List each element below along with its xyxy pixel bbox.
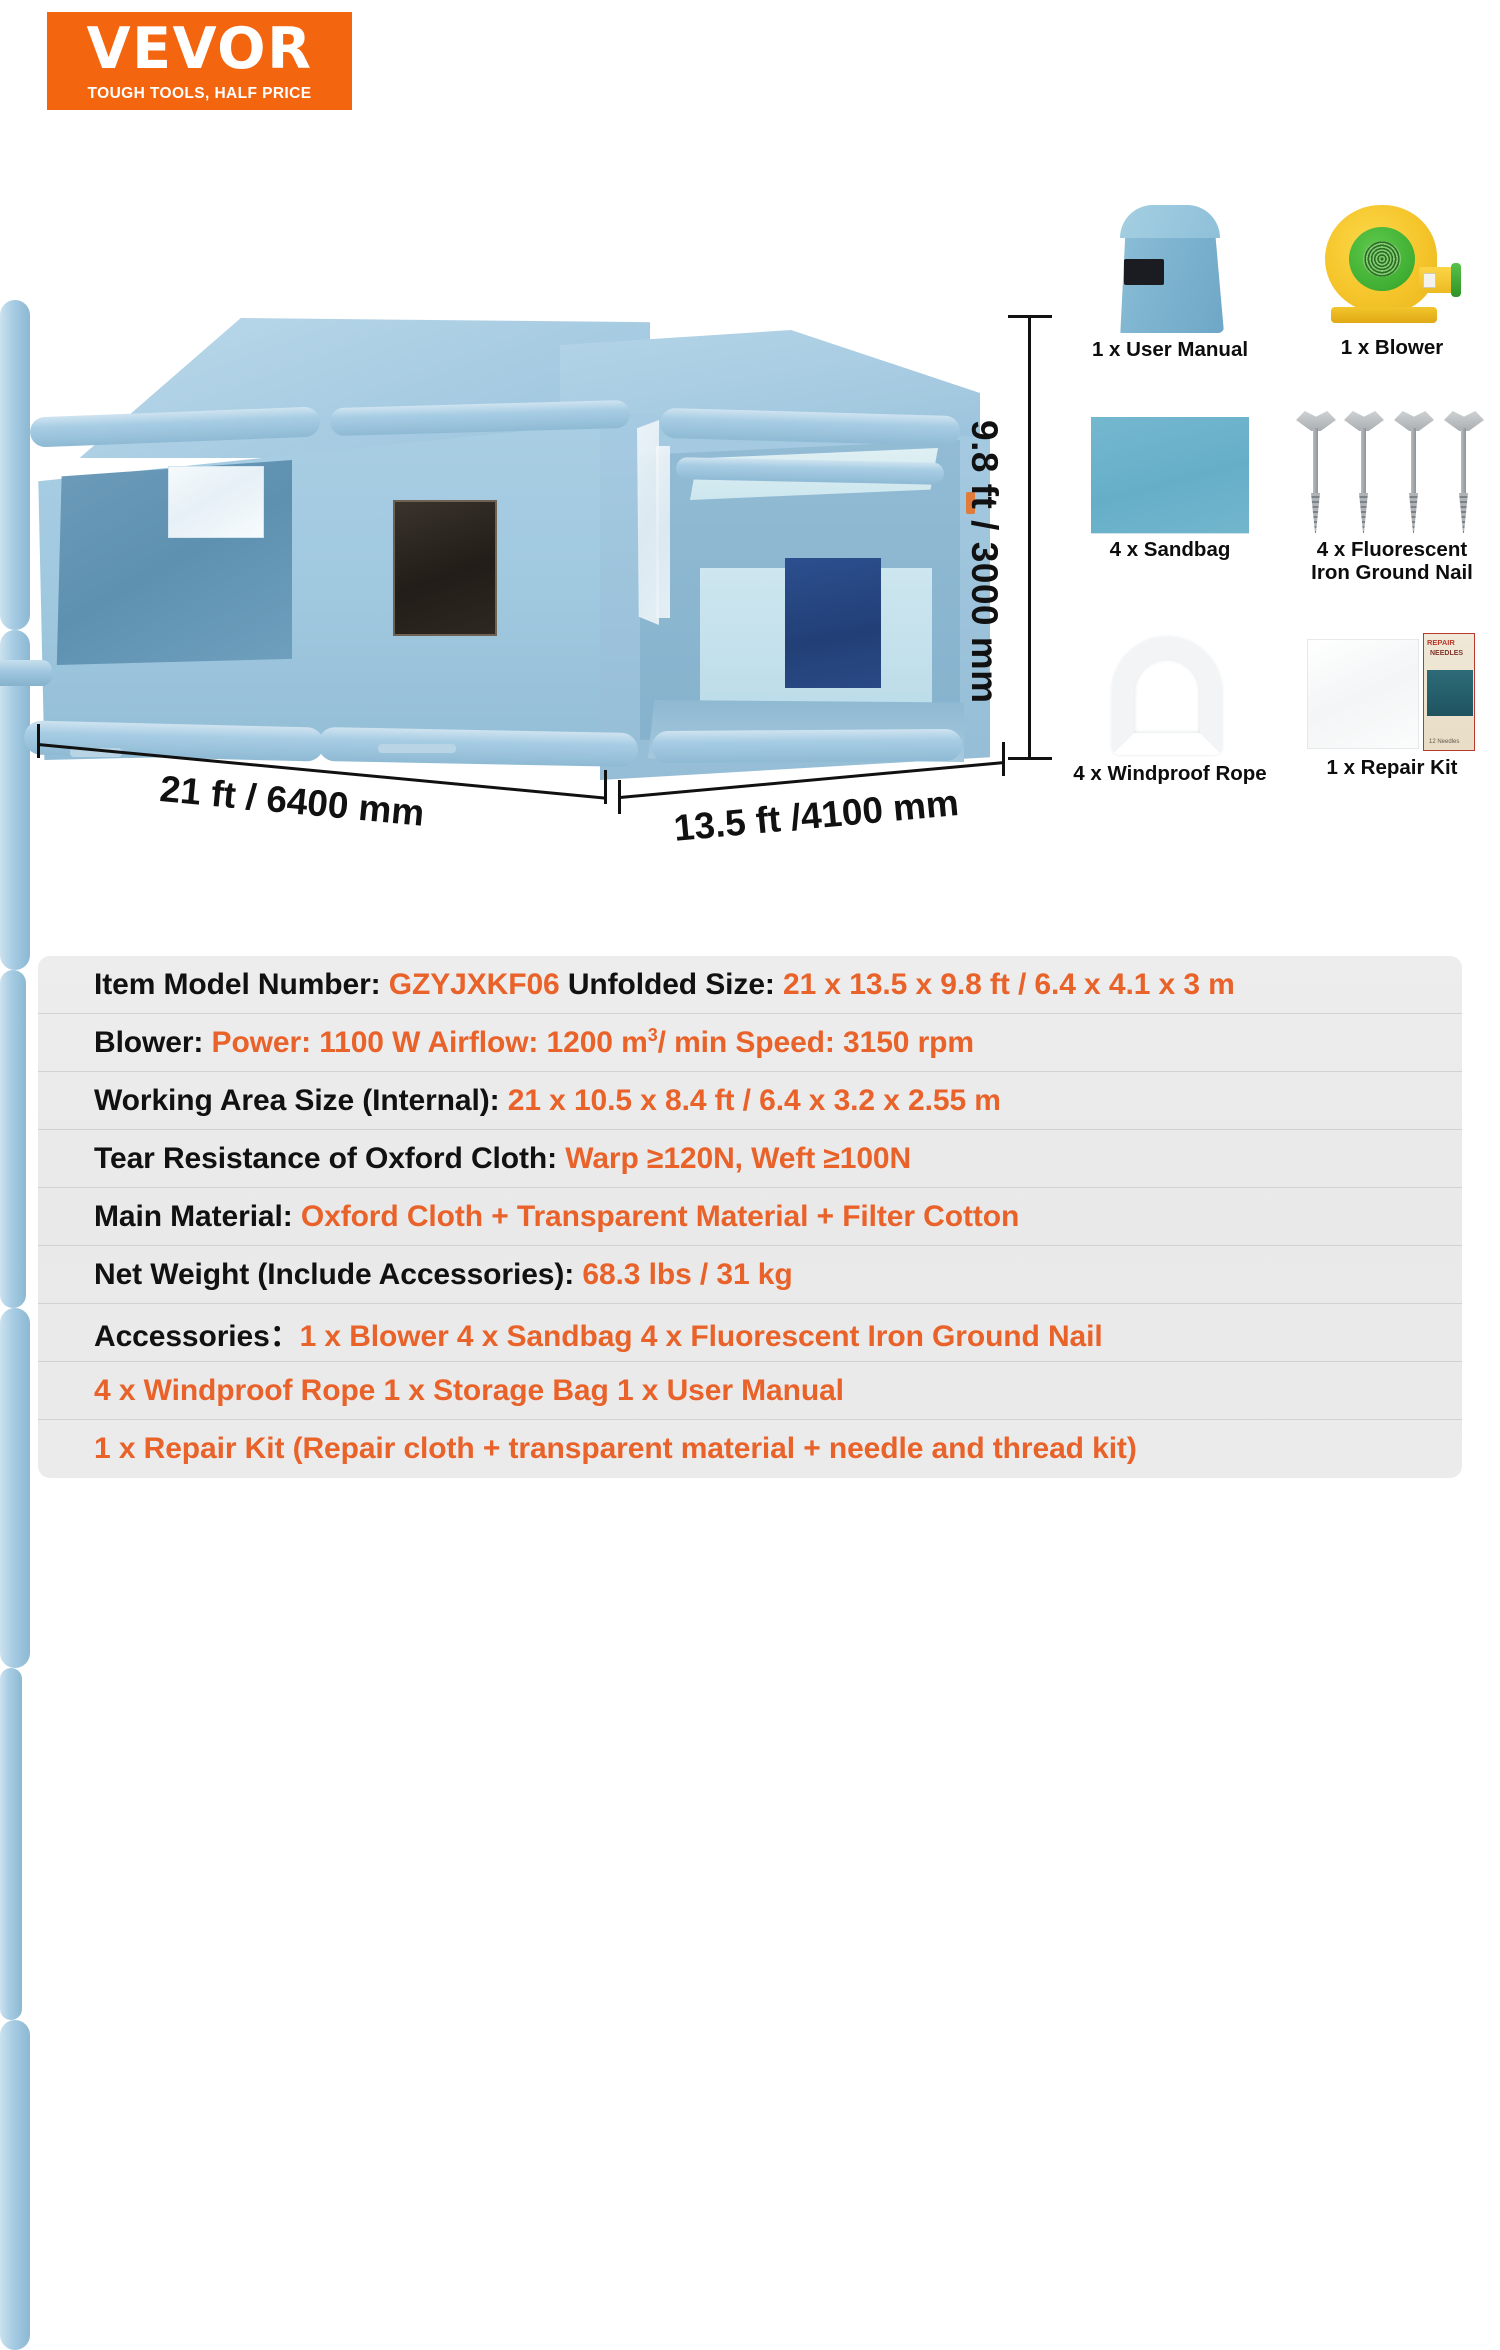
accessory-label: 1 x Repair Kit (1292, 757, 1492, 780)
accessory-label: 4 x Sandbag (1070, 539, 1270, 562)
repair-pack-title: REPAIR (1427, 638, 1455, 647)
spec-row-model-and-size: Item Model Number: GZYJXKF06 Unfolded Si… (38, 956, 1462, 1014)
tent-tube-mid-2 (0, 970, 26, 1308)
height-dimension-label: 9.8 ft / 3000 mm (963, 420, 1005, 704)
spec-row-blower: Blower: Power: 1100 W Airflow: 1200 m3/ … (38, 1014, 1462, 1072)
accessory-item-sandbag: 4 x Sandbag (1070, 417, 1270, 562)
spec-row-net-weight: Net Weight (Include Accessories): 68.3 l… (38, 1246, 1462, 1304)
width-dim-cap-left (37, 724, 40, 758)
accessory-item-repair-kit: REPAIR NEEDLES 12 Needles 1 x Repair Kit (1292, 633, 1492, 780)
spec-row-tear-resistance: Tear Resistance of Oxford Cloth: Warp ≥1… (38, 1130, 1462, 1188)
accessory-item-windproof-rope: 4 x Windproof Rope (1070, 633, 1270, 786)
storage-bag-icon (1116, 205, 1224, 333)
repair-kit-icon: REPAIR NEEDLES 12 Needles (1307, 633, 1477, 751)
tent-tube-corner-left (0, 300, 30, 630)
repair-pack-subtitle: NEEDLES (1430, 650, 1463, 657)
tent-tube-base-mid (318, 727, 639, 767)
spec-row-working-area: Working Area Size (Internal): 21 x 10.5 … (38, 1072, 1462, 1130)
spec-row-text: 4 x Windproof Rope 1 x Storage Bag 1 x U… (94, 1374, 844, 1408)
brand-name: VEVOR (86, 21, 312, 78)
accessory-label: 1 x Blower (1292, 337, 1492, 360)
height-dim-cap-bottom (1008, 757, 1052, 760)
accessory-item-blower: 1 x Blower (1292, 201, 1492, 360)
accessory-label: 4 x Windproof Rope (1070, 763, 1270, 786)
spec-row-accessories-line-2: 4 x Windproof Rope 1 x Storage Bag 1 x U… (38, 1362, 1462, 1420)
spec-row-text: Tear Resistance of Oxford Cloth: Warp ≥1… (94, 1142, 911, 1176)
depth-dim-cap-right (1002, 742, 1005, 776)
product-illustration: 9.8 ft / 3000 mm 21 ft / 6400 mm 13.5 ft… (0, 120, 1500, 920)
spec-row-accessories-line-3: 1 x Repair Kit (Repair cloth + transpare… (38, 1420, 1462, 1478)
accessories-panel: 1 x User Manual 1 x Blower 4 x Sandbag (1070, 205, 1490, 815)
accessory-label: 4 x Fluorescent Iron Ground Nail (1292, 539, 1492, 585)
tent-carry-handle (378, 744, 456, 753)
brand-logo: VEVOR TOUGH TOOLS, HALF PRICE (47, 12, 352, 110)
spec-row-main-material: Main Material: Oxford Cloth + Transparen… (38, 1188, 1462, 1246)
blower-icon (1323, 201, 1461, 331)
rope-icon (1104, 633, 1236, 757)
spec-row-text: Net Weight (Include Accessories): 68.3 l… (94, 1258, 793, 1292)
spec-row-accessories-line-1: Accessories：1 x Blower 4 x Sandbag 4 x F… (38, 1304, 1462, 1362)
spec-row-text: Item Model Number: GZYJXKF06 Unfolded Si… (94, 968, 1235, 1002)
accessory-item-ground-nail: 4 x Fluorescent Iron Ground Nail (1292, 411, 1492, 585)
tent-door-zipper-strip (656, 446, 670, 618)
spec-row-text: Working Area Size (Internal): 21 x 10.5 … (94, 1084, 1001, 1118)
tent-tube-door-left (0, 1668, 22, 2020)
spec-row-text: Main Material: Oxford Cloth + Transparen… (94, 1200, 1019, 1234)
inflatable-paint-booth-image (0, 300, 1010, 810)
tent-air-hose-left (0, 660, 52, 686)
tent-tube-front-base (652, 729, 962, 763)
sandbag-icon (1091, 417, 1249, 533)
spec-row-text: 1 x Repair Kit (Repair cloth + transpare… (94, 1432, 1137, 1466)
spec-row-text: Accessories：1 x Blower 4 x Sandbag 4 x F… (94, 1311, 1103, 1355)
height-dim-line (1028, 315, 1031, 760)
accessory-item-user-manual: 1 x User Manual (1070, 205, 1270, 362)
accessory-label: 1 x User Manual (1070, 339, 1270, 362)
tent-tube-front-right (0, 2020, 30, 2350)
tent-navy-filter-panel (785, 558, 881, 688)
ground-nail-icon (1294, 411, 1490, 533)
tent-clear-window (168, 466, 264, 538)
tent-tube-mid-3 (0, 1308, 30, 1668)
specification-table: Item Model Number: GZYJXKF06 Unfolded Si… (38, 956, 1462, 1478)
repair-pack-footer: 12 Needles (1429, 739, 1459, 745)
spec-row-text: Blower: Power: 1100 W Airflow: 1200 m3/ … (94, 1025, 974, 1060)
width-dim-cap-right (604, 770, 607, 804)
tent-filter-panel (393, 500, 497, 636)
brand-tagline: TOUGH TOOLS, HALF PRICE (88, 85, 312, 103)
